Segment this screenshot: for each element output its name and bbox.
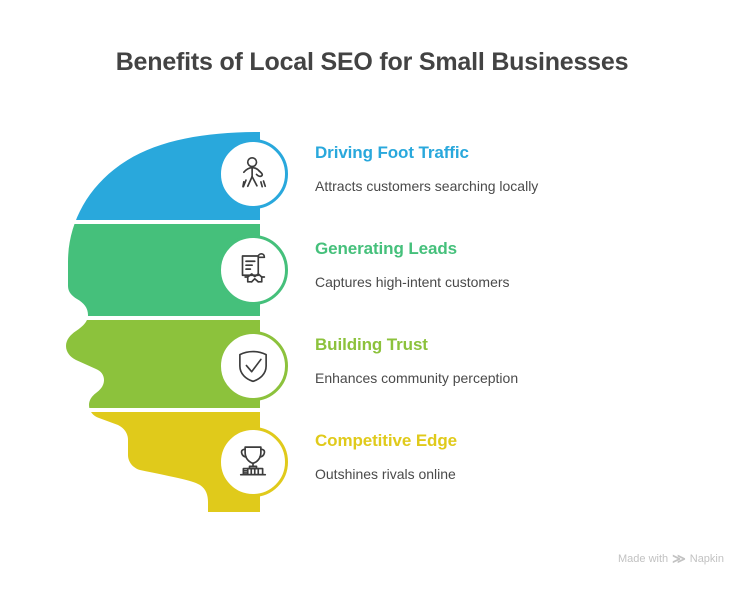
badge-driving-foot-traffic[interactable] [218, 139, 288, 209]
benefit-row-2: Generating Leads Captures high-intent cu… [300, 234, 720, 306]
benefit-heading: Generating Leads [315, 239, 457, 259]
watermark-text: Made with [618, 553, 668, 565]
watermark: Made with ≫ Napkin [618, 551, 724, 567]
shield-check-icon [232, 345, 274, 387]
napkin-logo-icon: ≫ [672, 551, 686, 567]
infographic-canvas: Benefits of Local SEO for Small Business… [0, 0, 744, 588]
badge-competitive-edge[interactable] [218, 427, 288, 497]
benefit-heading: Competitive Edge [315, 431, 457, 451]
benefit-list: Driving Foot Traffic Attracts customers … [0, 0, 744, 588]
benefit-heading: Driving Foot Traffic [315, 143, 469, 163]
benefit-row-4: Competitive Edge Outshines rivals online [300, 426, 720, 498]
badge-generating-leads[interactable] [218, 235, 288, 305]
benefit-row-3: Building Trust Enhances community percep… [300, 330, 720, 402]
benefit-description: Enhances community perception [315, 370, 518, 386]
contract-handshake-icon [232, 249, 274, 291]
benefit-description: Attracts customers searching locally [315, 178, 538, 194]
benefit-description: Outshines rivals online [315, 466, 456, 482]
badge-building-trust[interactable] [218, 331, 288, 401]
trophy-icon [232, 441, 274, 483]
walking-person-icon [232, 153, 274, 195]
watermark-brand: Napkin [690, 553, 724, 565]
benefit-description: Captures high-intent customers [315, 274, 510, 290]
benefit-heading: Building Trust [315, 335, 428, 355]
benefit-row-1: Driving Foot Traffic Attracts customers … [300, 138, 720, 210]
